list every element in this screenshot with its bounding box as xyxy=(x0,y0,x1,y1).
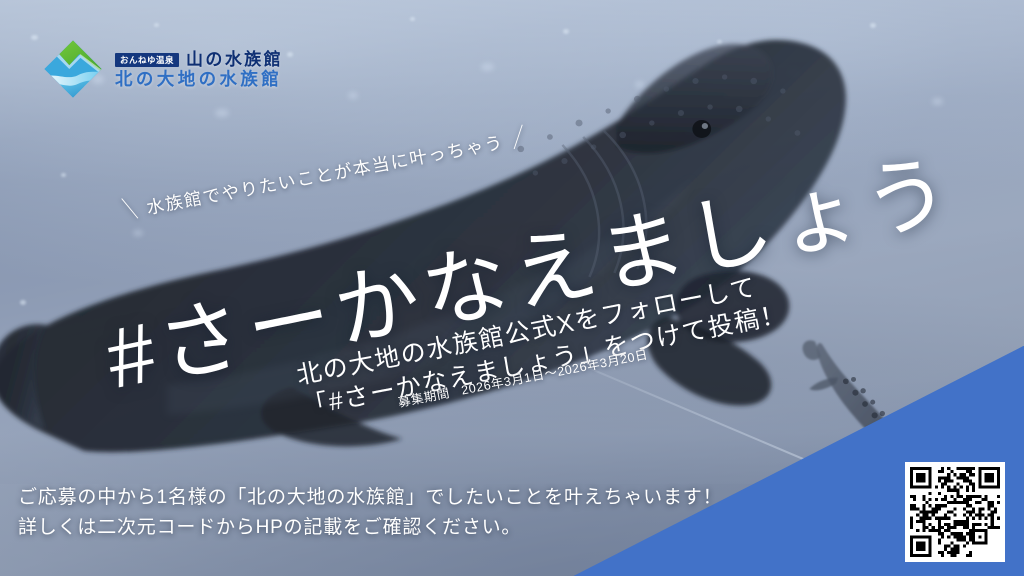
logo-onsen-badge: おんねゆ温泉 xyxy=(115,53,179,67)
slash-left-icon: ＼ xyxy=(119,192,143,223)
logo-wordmark: おんねゆ温泉 山の水族館 北の大地の水族館 xyxy=(115,49,283,89)
aquarium-logo[interactable]: おんねゆ温泉 山の水族館 北の大地の水族館 xyxy=(42,38,283,100)
bottom-note-line-2: 詳しくは二次元コードからHPの記載をご確認ください。 xyxy=(18,513,722,542)
mountain-water-diamond-icon xyxy=(42,38,104,100)
logo-main-name: 山の水族館 xyxy=(186,51,283,68)
logo-sub-name: 北の大地の水族館 xyxy=(115,71,283,89)
qr-code-image xyxy=(910,467,1000,557)
bottom-note: ご応募の中から1名様の「北の大地の水族館」でしたいことを叶えちゃいます！ 詳しく… xyxy=(18,483,722,542)
bottom-note-line-1: ご応募の中から1名様の「北の大地の水族館」でしたいことを叶えちゃいます！ xyxy=(18,483,722,512)
qr-code[interactable] xyxy=(905,462,1005,562)
poster-canvas: おんねゆ温泉 山の水族館 北の大地の水族館 ＼水族館でやりたいことが本当に叶っち… xyxy=(0,0,1024,576)
